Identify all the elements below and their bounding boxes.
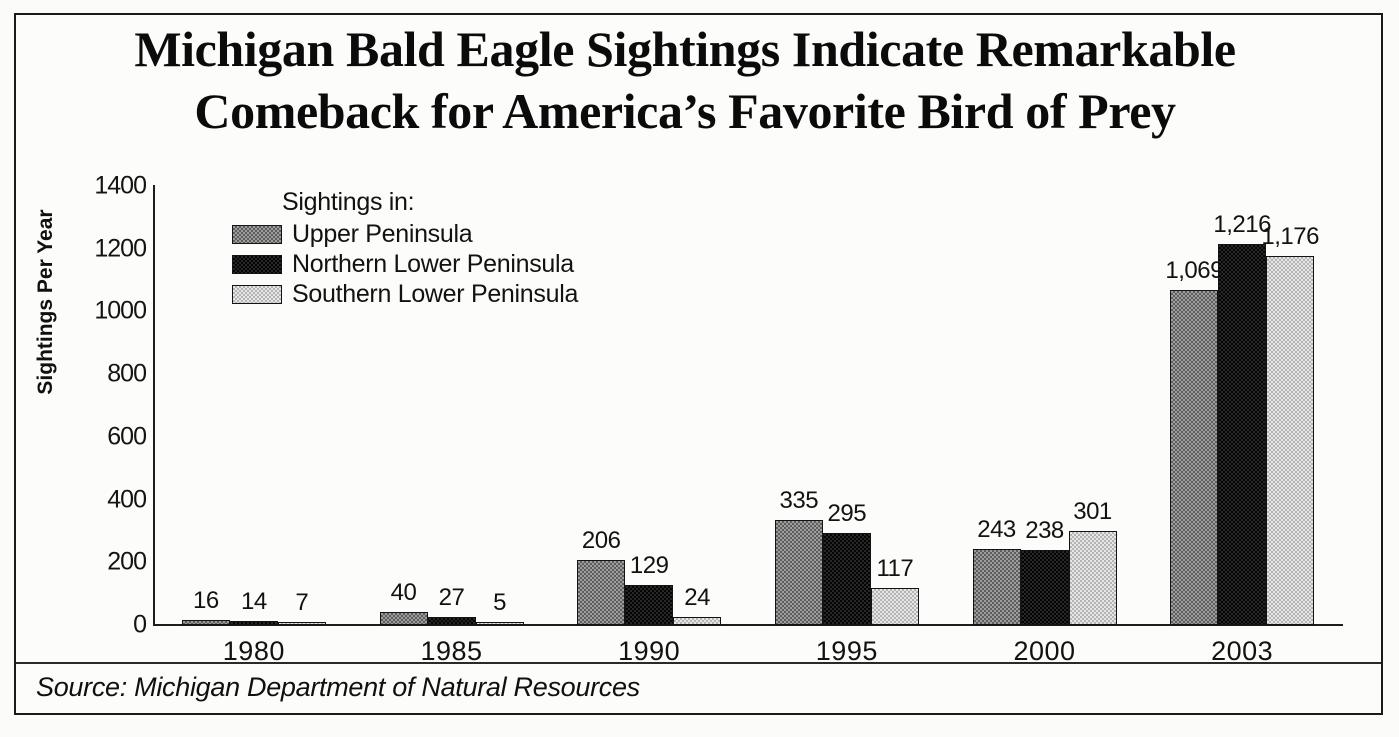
bar[interactable] xyxy=(428,617,476,625)
y-tick-label: 800 xyxy=(54,360,146,389)
legend-swatch-icon xyxy=(232,255,282,274)
bar-group: 335295117 xyxy=(775,186,919,625)
y-tick-label: 1200 xyxy=(54,234,146,263)
bar-group: 243238301 xyxy=(973,186,1117,625)
legend-item[interactable]: Southern Lower Peninsula xyxy=(232,279,578,309)
bar[interactable] xyxy=(871,588,919,625)
bar-value-label: 1,176 xyxy=(1245,223,1335,251)
y-tick-label: 400 xyxy=(54,485,146,514)
bar-group: 20612924 xyxy=(577,186,721,625)
y-axis-tick-labels: 0200400600800100012001400 xyxy=(48,186,146,625)
x-tick-label: 2003 xyxy=(1142,636,1342,667)
x-tick-label: 1995 xyxy=(747,636,947,667)
title-line-1: Michigan Bald Eagle Sightings Indicate R… xyxy=(20,18,1350,80)
bar-value-label: 295 xyxy=(802,500,892,528)
bar[interactable] xyxy=(380,612,428,625)
source-note: Source: Michigan Department of Natural R… xyxy=(36,672,640,703)
bar[interactable] xyxy=(182,620,230,625)
title-line-2: Comeback for America’s Favorite Bird of … xyxy=(20,80,1350,142)
bar-value-label: 24 xyxy=(652,584,742,612)
y-tick-label: 0 xyxy=(54,611,146,640)
y-tick-label: 200 xyxy=(54,548,146,577)
chart-figure: Michigan Bald Eagle Sightings Indicate R… xyxy=(0,0,1399,737)
legend-item-label: Northern Lower Peninsula xyxy=(292,250,574,279)
y-tick-label: 600 xyxy=(54,422,146,451)
legend-item-label: Southern Lower Peninsula xyxy=(292,280,578,309)
bar[interactable] xyxy=(775,520,823,625)
legend-swatch-icon xyxy=(232,225,282,244)
legend-item-label: Upper Peninsula xyxy=(292,220,472,249)
x-tick-label: 1990 xyxy=(549,636,749,667)
bar-value-label: 129 xyxy=(604,552,694,580)
legend-item[interactable]: Upper Peninsula xyxy=(232,219,578,249)
legend-heading: Sightings in: xyxy=(282,188,578,217)
x-tick-label: 1985 xyxy=(352,636,552,667)
legend-swatch-icon xyxy=(232,285,282,304)
bar[interactable] xyxy=(278,622,326,625)
chart-legend: Sightings in: Upper PeninsulaNorthern Lo… xyxy=(232,188,578,309)
bar-value-label: 7 xyxy=(257,589,347,617)
y-tick-label: 1400 xyxy=(54,172,146,201)
chart-title: Michigan Bald Eagle Sightings Indicate R… xyxy=(20,18,1350,142)
legend-item[interactable]: Northern Lower Peninsula xyxy=(232,249,578,279)
bar[interactable] xyxy=(1266,256,1314,625)
bar[interactable] xyxy=(673,617,721,625)
bar[interactable] xyxy=(1170,290,1218,625)
x-tick-label: 1980 xyxy=(154,636,354,667)
bar[interactable] xyxy=(476,622,524,625)
bar-value-label: 117 xyxy=(850,555,940,583)
bar[interactable] xyxy=(230,621,278,625)
bar[interactable] xyxy=(1021,550,1069,625)
bar-group: 1,0691,2161,176 xyxy=(1170,186,1314,625)
y-tick-label: 1000 xyxy=(54,297,146,326)
bar-value-label: 5 xyxy=(455,589,545,617)
bar-value-label: 301 xyxy=(1048,498,1138,526)
x-tick-label: 2000 xyxy=(945,636,1145,667)
bar[interactable] xyxy=(1218,244,1266,625)
bar[interactable] xyxy=(1069,531,1117,625)
bar[interactable] xyxy=(973,549,1021,625)
